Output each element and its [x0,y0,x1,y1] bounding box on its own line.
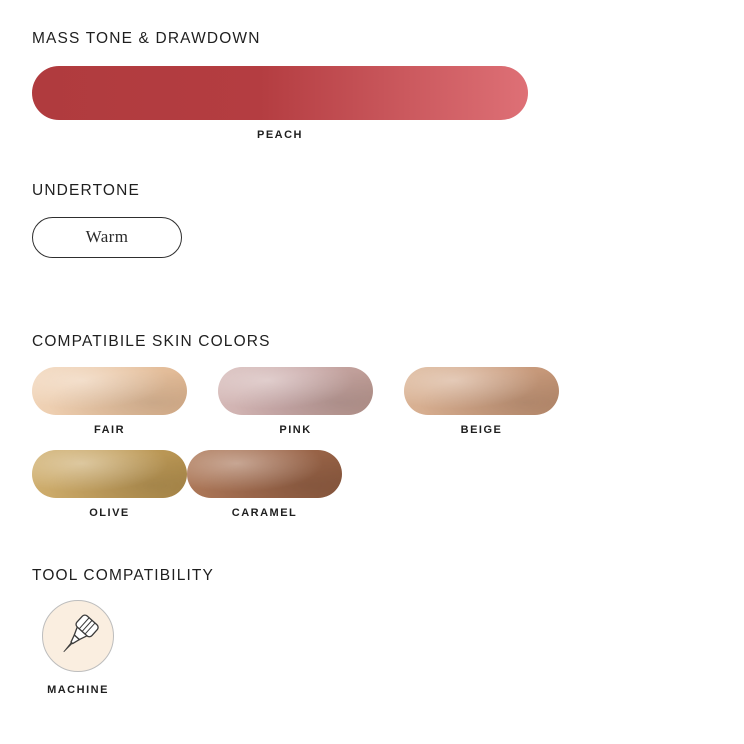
undertone-heading: UNDERTONE [32,183,182,199]
skin-color-item[interactable]: OLIVE [32,450,187,519]
skin-color-item[interactable]: CARAMEL [187,450,342,519]
undertone-value: Warm [86,227,129,247]
skin-color-swatch [187,450,342,498]
skin-color-swatch [404,367,559,415]
skin-color-item[interactable]: BEIGE [404,367,559,436]
skin-colors-section: COMPATIBILE SKIN COLORS FAIRPINKBEIGEOLI… [32,334,712,533]
skin-color-swatch [32,450,187,498]
skin-colors-grid: FAIRPINKBEIGEOLIVECARAMEL [32,367,712,533]
skin-color-item[interactable]: FAIR [32,367,187,436]
tool-compatibility-heading: TOOL COMPATIBILITY [32,568,214,584]
tool-compatibility-list: MACHINE [32,600,214,696]
skin-color-item[interactable]: PINK [218,367,373,436]
tool-compatibility-item[interactable]: MACHINE [32,600,180,696]
skin-color-label: BEIGE [404,424,559,436]
mass-tone-heading: MASS TONE & DRAWDOWN [32,31,528,47]
mass-tone-gradient-swatch [32,66,528,120]
undertone-section: UNDERTONE Warm [32,183,182,258]
undertone-pill[interactable]: Warm [32,217,182,258]
skin-color-label: OLIVE [32,507,187,519]
skin-color-swatch [218,367,373,415]
mass-tone-section: MASS TONE & DRAWDOWN PEACH [32,31,528,141]
skin-color-label: FAIR [32,424,187,436]
tattoo-machine-pen-icon [42,600,114,672]
tool-compatibility-label: MACHINE [32,684,124,696]
skin-color-label: PINK [218,424,373,436]
skin-colors-heading: COMPATIBILE SKIN COLORS [32,334,712,350]
tool-compatibility-section: TOOL COMPATIBILITY MACHINE [32,568,214,696]
mass-tone-swatch-label: PEACH [32,129,528,141]
skin-color-label: CARAMEL [187,507,342,519]
pigment-spec-sheet: MASS TONE & DRAWDOWN PEACH UNDERTONE War… [0,0,744,744]
skin-color-swatch [32,367,187,415]
